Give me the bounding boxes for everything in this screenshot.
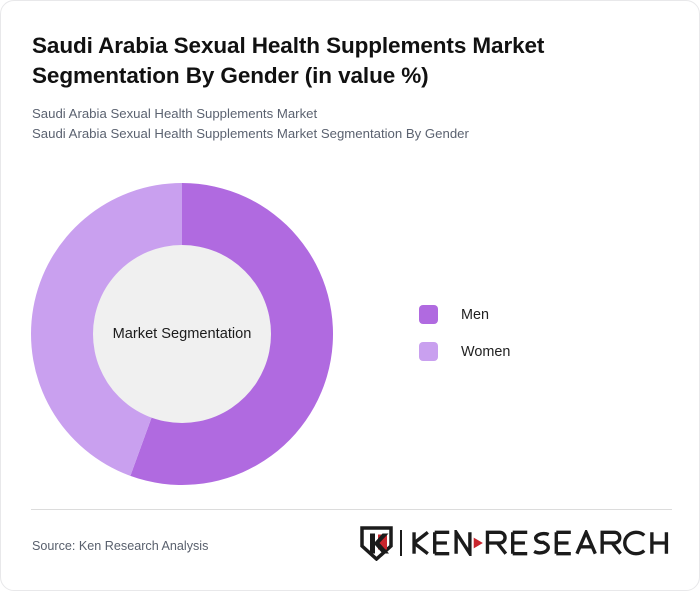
subtitle-line-1: Saudi Arabia Sexual Health Supplements M…	[32, 104, 642, 124]
ken-research-wordmark	[411, 530, 671, 556]
chart-header: Saudi Arabia Sexual Health Supplements M…	[32, 31, 642, 145]
legend-swatch-men	[419, 305, 438, 324]
donut-hole	[93, 245, 271, 423]
ken-research-logo	[360, 525, 671, 561]
legend-item-men[interactable]: Men	[419, 305, 510, 324]
page-title: Saudi Arabia Sexual Health Supplements M…	[32, 31, 642, 91]
legend-label-women: Women	[461, 344, 510, 360]
donut-chart: Market Segmentation	[31, 183, 333, 485]
legend-label-men: Men	[461, 307, 489, 323]
legend-item-women[interactable]: Women	[419, 342, 510, 361]
chart-legend: Men Women	[419, 305, 510, 361]
logo-divider	[400, 530, 402, 556]
subtitle-line-2: Saudi Arabia Sexual Health Supplements M…	[32, 124, 642, 144]
legend-swatch-women	[419, 342, 438, 361]
donut-svg	[31, 183, 333, 485]
subtitle-group: Saudi Arabia Sexual Health Supplements M…	[32, 104, 642, 145]
source-note: Source: Ken Research Analysis	[32, 539, 208, 553]
chart-card: Saudi Arabia Sexual Health Supplements M…	[0, 0, 700, 591]
ken-research-shield-icon	[360, 526, 393, 561]
chart-area: Market Segmentation Men Women	[1, 169, 700, 501]
footer-divider	[31, 509, 672, 510]
